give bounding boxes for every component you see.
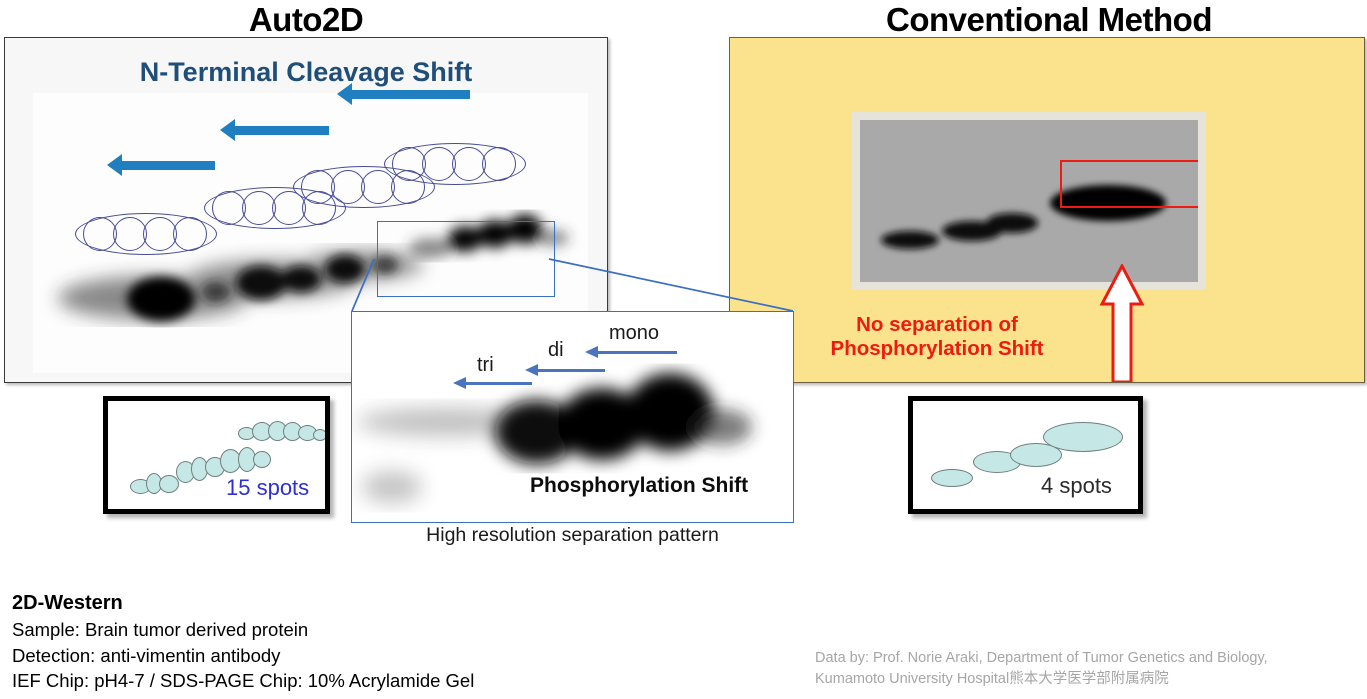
chain-circle (301, 170, 335, 204)
mono-shift-arrow (597, 351, 677, 354)
footer-line-chips: IEF Chip: pH4-7 / SDS-PAGE Chip: 10% Acr… (12, 668, 474, 694)
tri-shift-arrow (465, 382, 532, 385)
inset-caption: High resolution separation pattern (351, 524, 794, 547)
no-separation-warning: No separation of Phosphorylation Shift (752, 313, 1122, 361)
chain-circle (212, 191, 246, 225)
conventional-blot-frame (852, 112, 1206, 290)
spot-ellipse (1043, 422, 1123, 452)
zoom-selection-rectangle[interactable] (377, 221, 555, 297)
page-title-conventional: Conventional Method (730, 1, 1367, 39)
circle-chain-group-1 (75, 213, 217, 255)
chain-circle (173, 217, 207, 251)
footer-line-detection: Detection: anti-vimentin antibody (12, 643, 474, 669)
red-highlight-box (1060, 160, 1198, 208)
conventional-method-panel: No separation of Phosphorylation Shift (729, 37, 1365, 383)
di-label: di (548, 339, 564, 362)
no-separation-warning-line2: Phosphorylation Shift (752, 337, 1122, 361)
chain-circle (242, 191, 276, 225)
chain-circle (452, 147, 486, 181)
attribution-line1: Data by: Prof. Norie Araki, Department o… (815, 648, 1360, 669)
footer-line-sample: Sample: Brain tumor derived protein (12, 617, 474, 643)
mono-label: mono (609, 322, 659, 345)
spot-ellipse (931, 469, 973, 487)
conventional-blot-image (860, 120, 1198, 282)
chain-circle (113, 217, 147, 251)
footer-title: 2D-Western (12, 590, 474, 617)
phosphorylation-shift-label: Phosphorylation Shift (530, 474, 748, 498)
chain-circle (83, 217, 117, 251)
spot-ellipse (313, 429, 327, 441)
chain-circle (422, 147, 456, 181)
circle-chain-group-4 (384, 143, 526, 185)
chain-circle (143, 217, 177, 251)
cleavage-shift-arrow-middle (233, 126, 329, 135)
n-terminal-cleavage-shift-heading: N-Terminal Cleavage Shift (5, 57, 607, 88)
cleavage-shift-arrow-bottom (120, 161, 215, 170)
chain-circle (331, 170, 365, 204)
spot-ellipse (253, 451, 271, 468)
conventional-spot-count-label: 4 spots (1041, 473, 1112, 499)
page-title-auto2d: Auto2D (0, 1, 612, 39)
auto2d-spot-count-box: 15 spots (103, 396, 330, 514)
chain-circle (482, 147, 516, 181)
di-shift-arrow (537, 369, 605, 372)
chain-circle (392, 147, 426, 181)
spot-ellipse (159, 475, 179, 493)
tri-label: tri (477, 354, 494, 377)
footer-caption: 2D-Western Sample: Brain tumor derived p… (12, 590, 474, 694)
auto2d-spot-count-label: 15 spots (226, 475, 309, 501)
data-attribution: Data by: Prof. Norie Araki, Department o… (815, 648, 1360, 690)
conventional-spot-count-box: 4 spots (908, 396, 1143, 514)
attribution-line2: Kumamoto University Hospital熊本大学医学部附属病院 (815, 669, 1360, 690)
cleavage-shift-arrow-top (350, 90, 470, 99)
high-resolution-inset-panel: mono di tri Phosphorylation Shift (351, 311, 794, 523)
no-separation-warning-line1: No separation of (752, 313, 1122, 337)
